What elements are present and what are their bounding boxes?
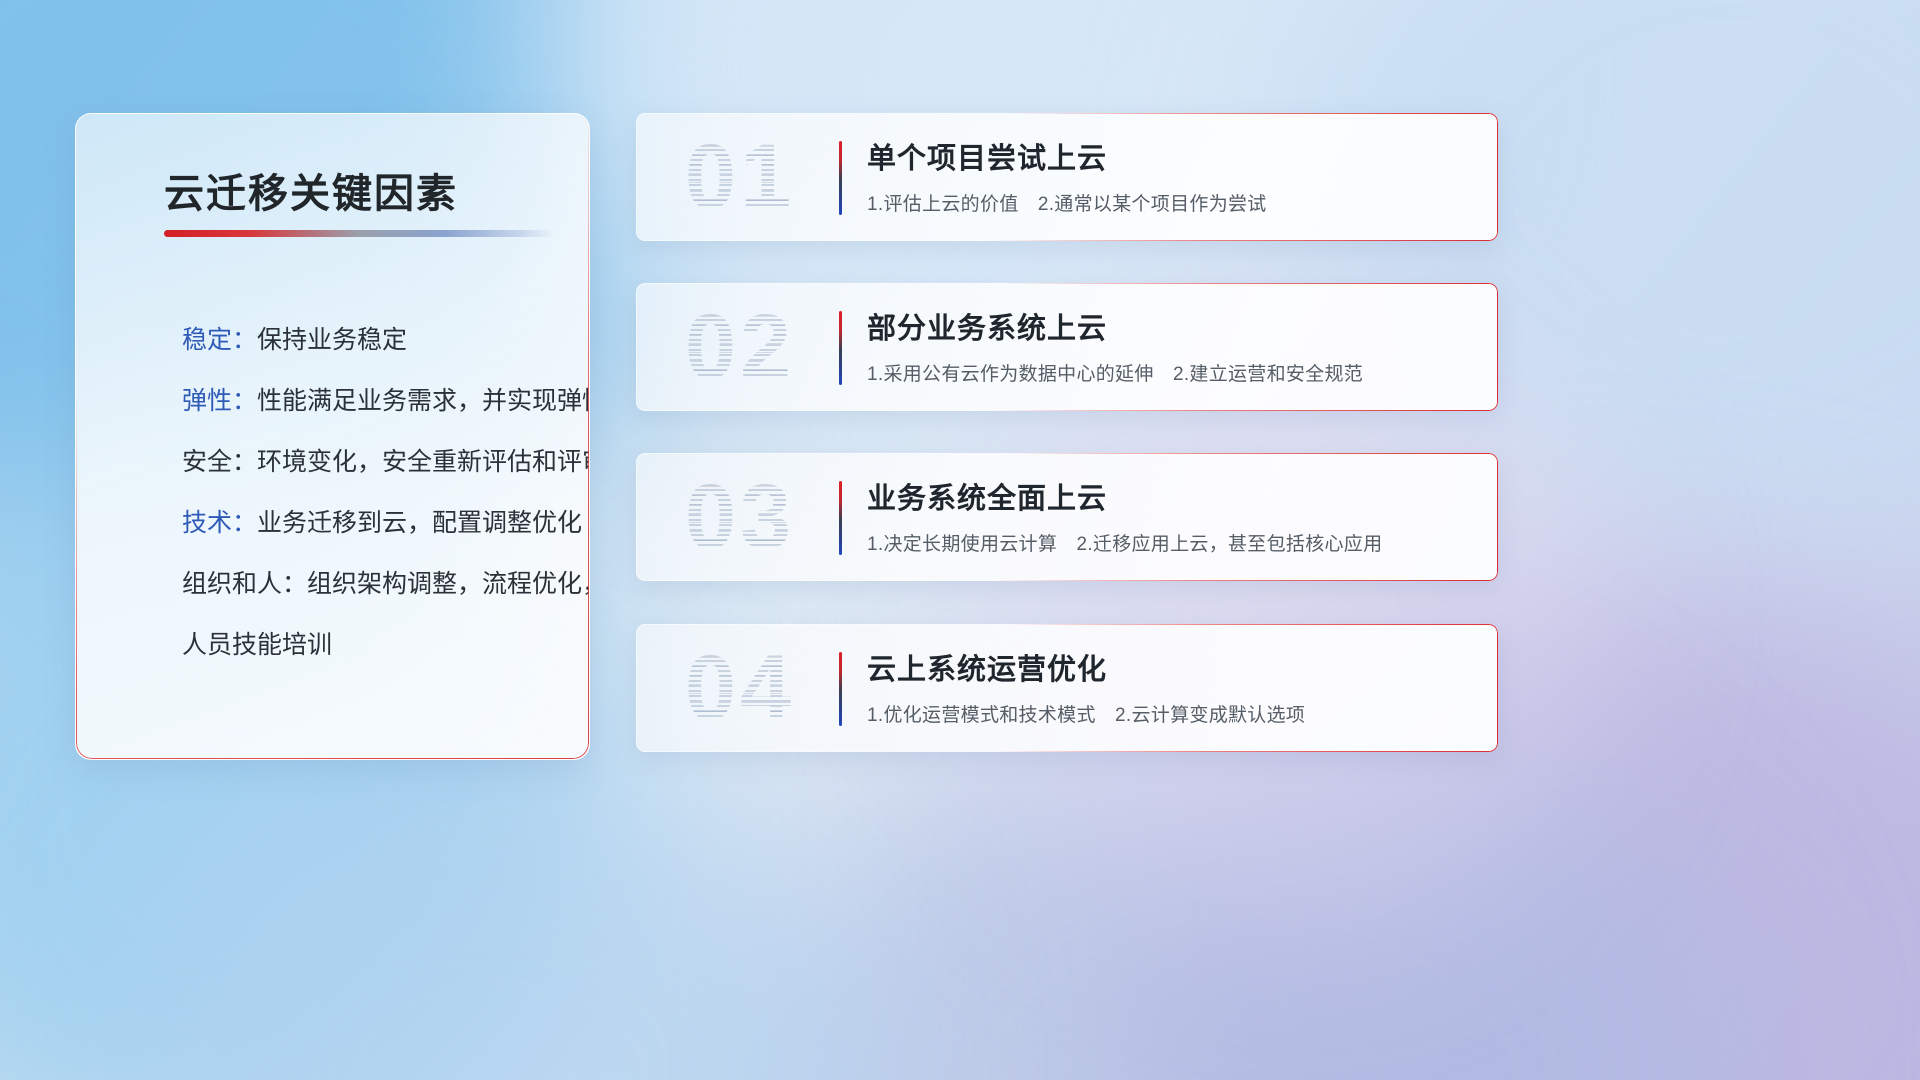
stage-title-01: 单个项目尝试上云 — [867, 135, 1107, 177]
stage-number-02: 02 — [664, 289, 816, 405]
stage-divider-03 — [839, 481, 842, 555]
factor-item: 技术：业务迁移到云，配置调整优化 — [110, 493, 565, 554]
factor-key: 组织和人： — [182, 570, 307, 598]
stage-title-03: 业务系统全面上云 — [867, 475, 1107, 517]
stage-number-01: 01 — [664, 119, 816, 235]
stage-card-03[interactable]: 03 03 业务系统全面上云 1.决定长期使用云计算 2.迁移应用上云，甚至包括… — [636, 453, 1498, 581]
stage-title-04: 云上系统运营优化 — [867, 646, 1107, 688]
factor-item: 人员技能培训 — [110, 615, 565, 676]
factor-item: 稳定：保持业务稳定 — [110, 310, 565, 371]
factor-value: 环境变化，安全重新评估和评审 — [257, 448, 590, 476]
factor-value: 保持业务稳定 — [257, 326, 407, 354]
stage-title-02: 部分业务系统上云 — [867, 305, 1107, 347]
factor-item: 安全：环境变化，安全重新评估和评审 — [110, 432, 565, 493]
stage-subtitle-01: 1.评估上云的价值 2.通常以某个项目作为尝试 — [867, 189, 1267, 216]
stage-card-02[interactable]: 02 02 部分业务系统上云 1.采用公有云作为数据中心的延伸 2.建立运营和安… — [636, 283, 1498, 411]
factor-value: 人员技能培训 — [182, 631, 332, 659]
stage-divider-04 — [839, 652, 842, 726]
factor-item: 组织和人：组织架构调整，流程优化， — [110, 554, 565, 615]
stage-number-04: 04 — [664, 630, 816, 746]
factor-value: 业务迁移到云，配置调整优化 — [257, 509, 582, 537]
title-underline-rule — [164, 230, 554, 237]
factor-key: 弹性： — [182, 387, 257, 415]
factor-value: 组织架构调整，流程优化， — [307, 570, 590, 598]
factor-value: 性能满足业务需求，并实现弹性 — [257, 387, 590, 415]
stage-card-01[interactable]: 01 01 单个项目尝试上云 1.评估上云的价值 2.通常以某个项目作为尝试 — [636, 113, 1498, 241]
stage-subtitle-04: 1.优化运营模式和技术模式 2.云计算变成默认选项 — [867, 700, 1305, 727]
factor-key: 安全： — [182, 448, 257, 476]
stage-subtitle-02: 1.采用公有云作为数据中心的延伸 2.建立运营和安全规范 — [867, 359, 1363, 386]
stage-number-03: 03 — [664, 459, 816, 575]
panel-title: 云迁移关键因素 — [164, 161, 458, 219]
key-factors-panel: 云迁移关键因素 稳定：保持业务稳定弹性：性能满足业务需求，并实现弹性安全：环境变… — [75, 113, 590, 760]
stage-divider-01 — [839, 141, 842, 215]
factor-key: 稳定： — [182, 326, 257, 354]
factor-item: 弹性：性能满足业务需求，并实现弹性 — [110, 371, 565, 432]
factor-key: 技术： — [182, 509, 257, 537]
stage-subtitle-03: 1.决定长期使用云计算 2.迁移应用上云，甚至包括核心应用 — [867, 529, 1382, 556]
stage-divider-02 — [839, 311, 842, 385]
factor-list: 稳定：保持业务稳定弹性：性能满足业务需求，并实现弹性安全：环境变化，安全重新评估… — [110, 310, 565, 676]
stage-card-04[interactable]: 04 04 云上系统运营优化 1.优化运营模式和技术模式 2.云计算变成默认选项 — [636, 624, 1498, 752]
